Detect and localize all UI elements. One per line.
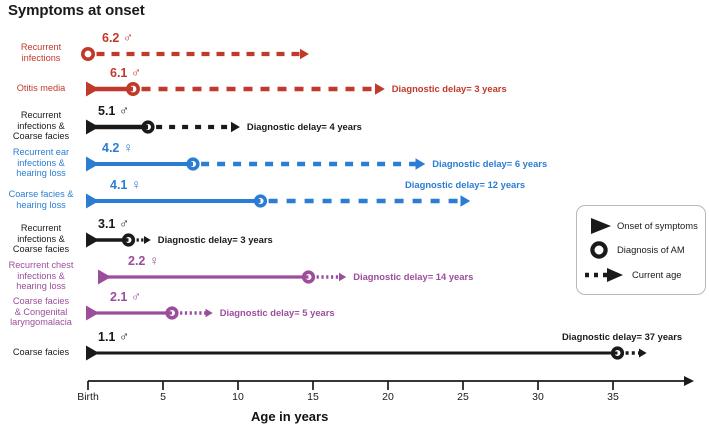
current-age-arrow-2.2	[339, 273, 346, 282]
current-age-arrow-6.2	[300, 49, 309, 60]
symptom-label-line: infections &	[0, 158, 82, 169]
current-age-arrow-1.1	[639, 349, 647, 358]
symptom-label-line: infections &	[0, 234, 82, 245]
patient-code-3.1: 3.1 ♂	[98, 216, 129, 231]
symptom-label-line: Recurrent ear	[0, 147, 82, 158]
symptom-label-6.1: Otitis media	[0, 83, 82, 94]
patient-code-2.1: 2.1 ♂	[110, 289, 141, 304]
patient-code-2.2: 2.2 ♀	[128, 253, 159, 268]
symptom-label-line: infections &	[0, 271, 82, 282]
symptom-label-line: Coarse facies	[0, 131, 82, 142]
male-symbol-icon: ♂	[115, 103, 129, 118]
page-title: Symptoms at onset	[8, 2, 145, 19]
male-symbol-icon: ♂	[119, 30, 133, 45]
female-symbol-icon: ♀	[145, 253, 159, 268]
female-symbol-icon: ♀	[127, 177, 141, 192]
symptom-label-line: Coarse facies	[0, 296, 82, 307]
diagnostic-delay-label-4.1: Diagnostic delay= 12 years	[405, 179, 525, 190]
diagnostic-delay-label-6.1: Diagnostic delay= 3 years	[392, 83, 507, 94]
current-age-arrow-3.1	[144, 236, 151, 244]
symptom-label-2.1: Coarse facies& Congenitallaryngomalacia	[0, 296, 82, 328]
onset-marker-6.1	[86, 82, 99, 97]
diagnosis-marker-2.2	[304, 272, 314, 282]
current-age-arrow-6.1	[375, 83, 385, 95]
male-symbol-icon: ♂	[127, 289, 141, 304]
dashed-arrow-head-icon	[607, 268, 623, 282]
male-symbol-icon: ♂	[115, 216, 129, 231]
male-symbol-icon: ♂	[127, 65, 141, 80]
onset-marker-3.1	[86, 233, 99, 248]
symptom-label-line: Coarse facies &	[0, 189, 82, 200]
symptom-label-line: Coarse facies	[0, 244, 82, 255]
diagnosis-marker-3.1	[124, 235, 134, 245]
patient-code-4.2: 4.2 ♀	[102, 140, 133, 155]
male-symbol-icon: ♂	[115, 329, 129, 344]
symptom-label-line: laryngomalacia	[0, 317, 82, 328]
diagnosis-marker-4.1	[256, 196, 266, 206]
onset-marker-1.1	[86, 346, 99, 361]
diagnosis-marker-1.1	[613, 348, 623, 358]
onset-marker-2.2	[98, 270, 111, 285]
symptom-timeline-chart: Symptoms at onset RecurrentinfectionsOti…	[0, 0, 709, 431]
symptom-label-line: infections &	[0, 121, 82, 132]
diagnostic-delay-label-2.2: Diagnostic delay= 14 years	[353, 271, 473, 282]
symptom-label-line: Recurrent	[0, 223, 82, 234]
symptom-label-line: Coarse facies	[0, 347, 82, 358]
symptom-label-5.1: Recurrentinfections &Coarse facies	[0, 110, 82, 142]
symptom-label-line: Otitis media	[0, 83, 82, 94]
symptom-label-line: infections	[0, 53, 82, 64]
onset-marker-2.1	[86, 306, 99, 321]
diagnosis-marker-2.1	[167, 308, 177, 318]
onset-marker-4.2	[86, 157, 99, 172]
symptom-label-4.2: Recurrent earinfections &hearing loss	[0, 147, 82, 179]
triangle-right-icon	[591, 218, 611, 234]
diagnosis-marker-4.2	[188, 159, 198, 169]
onset-marker-4.1	[86, 194, 99, 209]
symptom-label-1.1: Coarse facies	[0, 347, 82, 358]
axis-tick-label-5: 5	[160, 391, 166, 403]
diagnostic-delay-label-1.1: Diagnostic delay= 37 years	[562, 331, 682, 342]
diagnostic-delay-label-4.2: Diagnostic delay= 6 years	[432, 158, 547, 169]
current-age-arrow-4.2	[416, 158, 426, 170]
patient-code-1.1: 1.1 ♂	[98, 329, 129, 344]
symptom-label-line: Recurrent chest	[0, 260, 82, 271]
legend-label-dashed-arrow: Current age	[632, 269, 682, 280]
axis-tick-label-10: 10	[232, 391, 244, 403]
axis-tick-label-birth: Birth	[77, 391, 99, 403]
current-age-arrow-4.1	[461, 195, 471, 207]
symptom-label-4.1: Coarse facies &hearing loss	[0, 189, 82, 210]
axis-tick-label-15: 15	[307, 391, 319, 403]
axis-tick-label-25: 25	[457, 391, 469, 403]
axis-title: Age in years	[251, 409, 328, 424]
current-age-arrow-2.1	[206, 309, 213, 318]
axis-tick-label-20: 20	[382, 391, 394, 403]
patient-code-4.1: 4.1 ♀	[110, 177, 141, 192]
symptom-label-line: hearing loss	[0, 168, 82, 179]
patient-code-5.1: 5.1 ♂	[98, 103, 129, 118]
current-age-arrow-5.1	[231, 122, 240, 133]
symptom-label-line: Recurrent	[0, 110, 82, 121]
diagnosis-marker-5.1	[143, 122, 153, 132]
patient-code-6.1: 6.1 ♂	[110, 65, 141, 80]
symptom-label-line: hearing loss	[0, 200, 82, 211]
symptom-label-line: Recurrent	[0, 42, 82, 53]
legend-label-triangle-right: Onset of symptoms	[617, 220, 698, 231]
symptom-label-line: & Congenital	[0, 307, 82, 318]
diagnostic-delay-label-2.1: Diagnostic delay= 5 years	[220, 307, 335, 318]
diagnosis-marker-6.1	[128, 84, 138, 94]
symptom-label-6.2: Recurrentinfections	[0, 42, 82, 63]
diagnostic-delay-label-5.1: Diagnostic delay= 4 years	[247, 121, 362, 132]
circle-outline-icon	[592, 243, 605, 256]
diagnosis-marker-6.2	[83, 49, 93, 59]
axis-tick-label-35: 35	[607, 391, 619, 403]
diagnostic-delay-label-3.1: Diagnostic delay= 3 years	[158, 234, 273, 245]
axis-tick-label-30: 30	[532, 391, 544, 403]
legend-label-circle-outline: Diagnosis of AM	[617, 244, 685, 255]
symptom-label-3.1: Recurrentinfections &Coarse facies	[0, 223, 82, 255]
axis-arrow-icon	[684, 376, 694, 386]
female-symbol-icon: ♀	[119, 140, 133, 155]
onset-marker-5.1	[86, 120, 99, 135]
symptom-label-line: hearing loss	[0, 281, 82, 292]
chart-legend: Onset of symptomsDiagnosis of AMCurrent …	[576, 205, 706, 295]
symptom-label-2.2: Recurrent chestinfections &hearing loss	[0, 260, 82, 292]
patient-code-6.2: 6.2 ♂	[102, 30, 133, 45]
